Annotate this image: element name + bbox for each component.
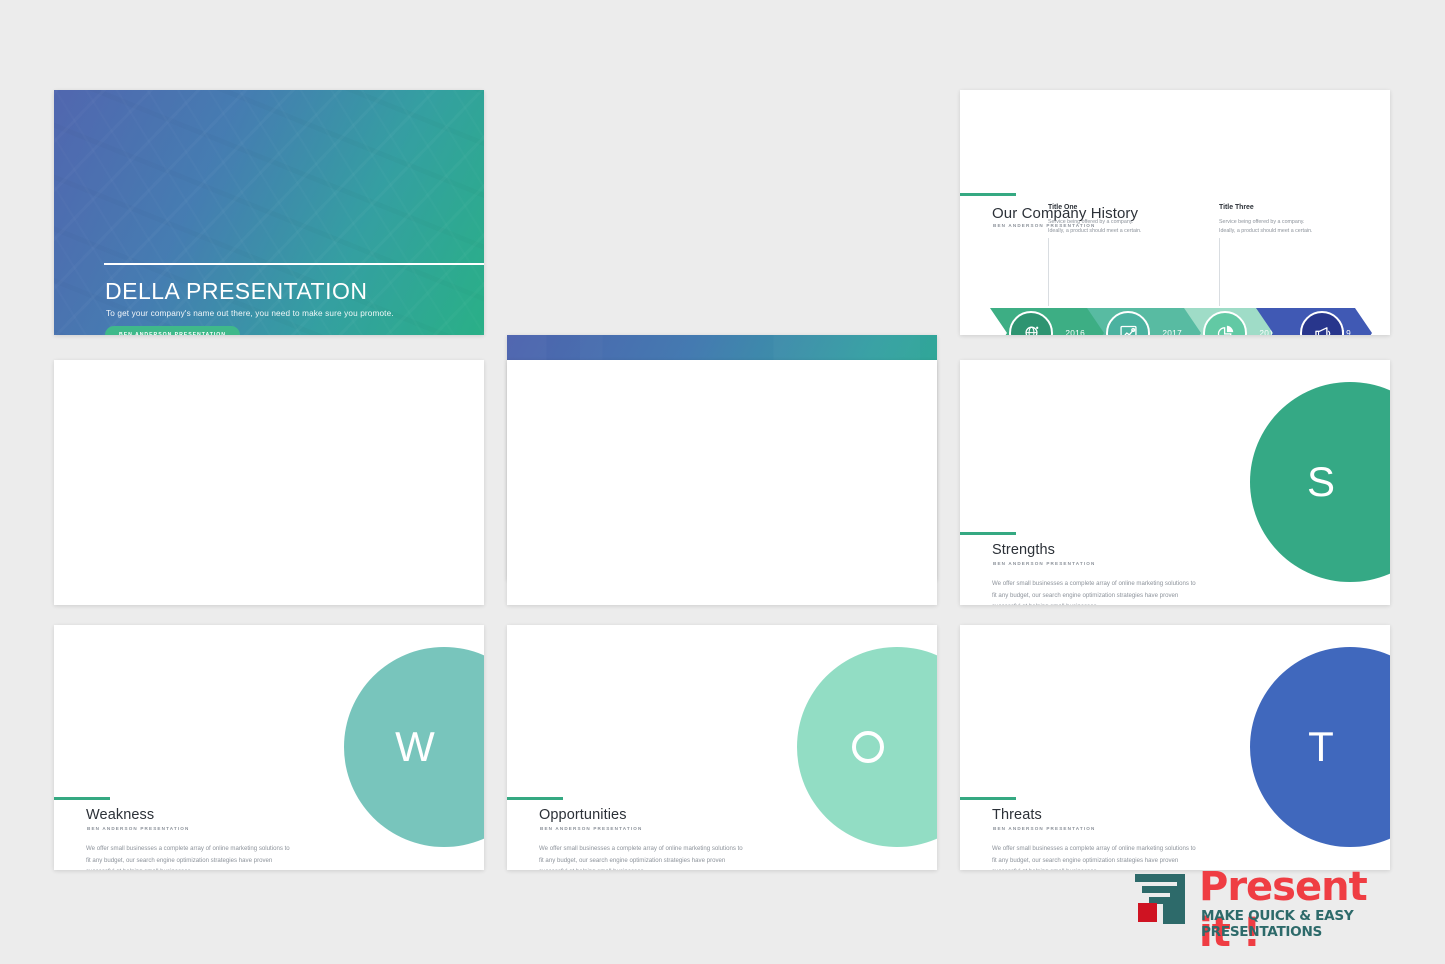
slide-swot-diagram[interactable]: S.W.O.T. Diagram BEN ANDERSON PRESENTATI… — [507, 360, 937, 605]
slide-company-history[interactable]: Our Company History BEN ANDERSON PRESENT… — [960, 90, 1390, 335]
weakness-body: We offer small businesses a complete arr… — [86, 843, 291, 870]
weakness-circle: W — [344, 647, 484, 847]
opportunities-title: Opportunities — [539, 807, 627, 823]
slide-threats[interactable]: T Threats BEN ANDERSON PRESENTATION We o… — [960, 625, 1390, 870]
accent-bar — [507, 797, 563, 800]
weakness-title: Weakness — [86, 807, 154, 823]
milestone-desc-3-line1: Service being offered by a company. — [1219, 218, 1305, 227]
presentation-template-board: DELLA PRESENTATION To get your company's… — [0, 0, 1445, 964]
slide-title[interactable]: DELLA PRESENTATION To get your company's… — [54, 90, 484, 335]
opportunities-circle — [797, 647, 937, 847]
threats-title: Threats — [992, 807, 1042, 823]
title-divider-rule — [104, 263, 484, 265]
logo-tagline: MAKE QUICK & EASY PRESENTATIONS — [1201, 908, 1408, 940]
accent-bar — [960, 193, 1016, 196]
milestone-desc-1-line2: Ideally, a product should meet a certain… — [1048, 227, 1142, 236]
timeline-track: 2016 2017 2018 2019 — [990, 308, 1362, 335]
weakness-subtitle: BEN ANDERSON PRESENTATION — [87, 826, 189, 831]
strengths-body: We offer small businesses a complete arr… — [992, 578, 1197, 605]
milestone-desc-3-line2: Ideally, a product should meet a certain… — [1219, 227, 1313, 236]
milestone-desc-1-line1: Service being offered by a company. — [1048, 218, 1134, 227]
title-slide-author-pill[interactable]: BEN ANDERSON PRESENTATION — [105, 326, 240, 335]
title-slide-heading: DELLA PRESENTATION — [105, 278, 368, 305]
strengths-subtitle: BEN ANDERSON PRESENTATION — [993, 561, 1095, 566]
title-slide-subtitle: To get your company's name out there, yo… — [106, 309, 394, 318]
threats-letter: T — [1308, 723, 1334, 771]
present-it-logo: Present it ! MAKE QUICK & EASY PRESENTAT… — [1133, 868, 1408, 932]
strengths-title: Strengths — [992, 542, 1055, 558]
accent-bar — [54, 797, 110, 800]
slide-strengths[interactable]: S Strengths BEN ANDERSON PRESENTATION We… — [960, 360, 1390, 605]
slide-weakness[interactable]: W Weakness BEN ANDERSON PRESENTATION We … — [54, 625, 484, 870]
milestone-stem-3 — [1219, 238, 1220, 306]
milestone-label-3: Title Three — [1219, 204, 1254, 211]
slide-product-preview[interactable]: Product Preview BEN ANDERSON PRESENTATIO… — [54, 360, 484, 605]
opportunities-letter — [852, 731, 884, 763]
threats-body: We offer small businesses a complete arr… — [992, 843, 1197, 870]
strengths-letter: S — [1307, 458, 1335, 506]
slide-opportunities[interactable]: Opportunities BEN ANDERSON PRESENTATION … — [507, 625, 937, 870]
logo-mark-icon — [1133, 870, 1193, 928]
threats-subtitle: BEN ANDERSON PRESENTATION — [993, 826, 1095, 831]
milestone-stem-1 — [1048, 238, 1049, 306]
threats-circle: T — [1250, 647, 1390, 847]
weakness-letter: W — [395, 723, 435, 771]
opportunities-subtitle: BEN ANDERSON PRESENTATION — [540, 826, 642, 831]
accent-bar — [960, 797, 1016, 800]
opportunities-body: We offer small businesses a complete arr… — [539, 843, 744, 870]
strengths-circle: S — [1250, 382, 1390, 582]
accent-bar — [960, 532, 1016, 535]
milestone-label-1: Title One — [1048, 204, 1077, 211]
